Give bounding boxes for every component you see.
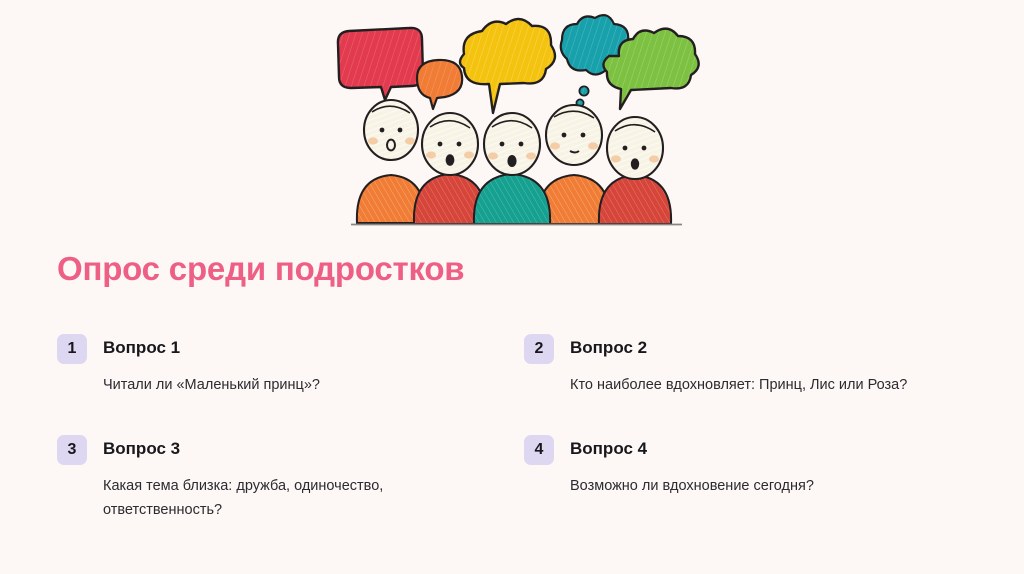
question-1-number-badge: 1 xyxy=(57,334,87,364)
question-1-header: 1 Вопрос 1 xyxy=(57,334,477,364)
question-4-header: 4 Вопрос 4 xyxy=(524,435,944,465)
question-3-number-badge: 3 xyxy=(57,435,87,465)
speech-bubble-yellow-icon xyxy=(460,19,555,113)
question-3-header: 3 Вопрос 3 xyxy=(57,435,477,465)
question-3-text: Какая тема близка: дружба, одиночество, … xyxy=(103,474,477,522)
question-item-3[interactable]: 3 Вопрос 3 Какая тема близка: дружба, од… xyxy=(57,435,477,522)
question-4-number-badge: 4 xyxy=(524,435,554,465)
figure-5 xyxy=(599,117,671,224)
speech-bubble-orange-icon xyxy=(417,60,462,109)
question-item-2[interactable]: 2 Вопрос 2 Кто наиболее вдохновляет: При… xyxy=(524,334,944,397)
figure-3 xyxy=(474,113,550,224)
question-3-title: Вопрос 3 xyxy=(103,435,180,463)
question-2-title: Вопрос 2 xyxy=(570,334,647,362)
slide-root: Опрос среди подростков 1 Вопрос 1 Читали… xyxy=(0,0,1024,574)
question-2-text: Кто наиболее вдохновляет: Принц, Лис или… xyxy=(570,373,944,397)
page-title: Опрос среди подростков xyxy=(57,249,464,289)
question-4-title: Вопрос 4 xyxy=(570,435,647,463)
question-1-title: Вопрос 1 xyxy=(103,334,180,362)
speech-bubble-red-icon xyxy=(338,28,423,100)
question-2-header: 2 Вопрос 2 xyxy=(524,334,944,364)
question-4-text: Возможно ли вдохновение сегодня? xyxy=(570,474,944,498)
illustration-crowd-speech-bubbles xyxy=(326,8,726,230)
question-1-text: Читали ли «Маленький принц»? xyxy=(103,373,477,397)
question-item-1[interactable]: 1 Вопрос 1 Читали ли «Маленький принц»? xyxy=(57,334,477,397)
question-item-4[interactable]: 4 Вопрос 4 Возможно ли вдохновение сегод… xyxy=(524,435,944,498)
question-2-number-badge: 2 xyxy=(524,334,554,364)
